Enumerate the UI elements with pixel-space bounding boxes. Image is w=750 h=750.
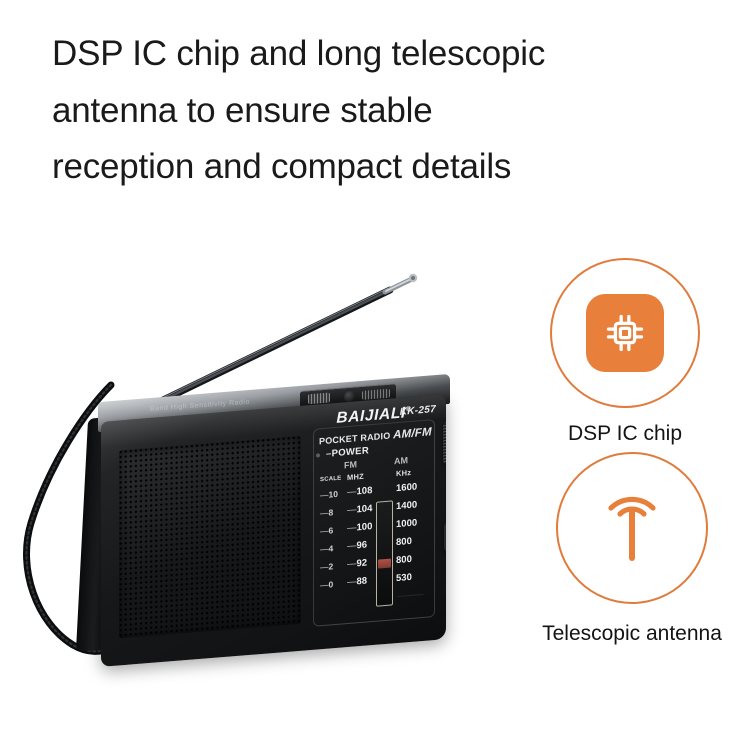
- radio-faceplate: BAIJIALI® KK-257 POCKET RADIO AM/FM –POW…: [313, 419, 435, 627]
- tuning-needle: [378, 558, 391, 568]
- pocket-radio-product: Band High Sensitivity Radio BAIJIALI® KK…: [60, 268, 490, 668]
- cpu-chip-icon: [586, 294, 664, 372]
- power-label: –POWER: [326, 445, 369, 459]
- dial-column-am: KHz 1600 1400 1000 800 800 530: [396, 465, 432, 613]
- dial-scale-value: 8: [329, 507, 334, 517]
- tuning-wheel[interactable]: [443, 421, 446, 464]
- dial-fm-value: 96: [357, 539, 368, 551]
- headline-line-3: reception and compact details: [52, 139, 712, 196]
- dial-fm-value: 92: [357, 557, 368, 569]
- dial-column-fm: MHZ —108 —104 —100 —96 —92 —88: [347, 470, 376, 617]
- product-feature-banner: DSP IC chip and long telescopic antenna …: [0, 0, 750, 750]
- band-type-text: AM/FM: [393, 426, 432, 441]
- band-label-am: AM: [394, 455, 408, 466]
- power-label-text: POWER: [332, 445, 369, 459]
- dial-scale-value: 6: [329, 525, 334, 535]
- dial-fm-value: 100: [357, 521, 373, 533]
- speaker-grille: [119, 436, 301, 639]
- page-title: DSP IC chip and long telescopic antenna …: [52, 26, 712, 196]
- dial-row: —0: [320, 574, 347, 594]
- registered-mark: ®: [406, 406, 412, 413]
- dial-row: —4: [320, 538, 347, 558]
- headline-line-2: antenna to ensure stable: [52, 83, 712, 140]
- feature-telescopic-antenna: Telescopic antenna: [512, 452, 750, 646]
- product-type-line: POCKET RADIO AM/FM: [319, 426, 430, 447]
- feature-ring: [550, 258, 700, 408]
- radio-body: BAIJIALI® KK-257 POCKET RADIO AM/FM –POW…: [101, 394, 446, 667]
- feature-label: DSP IC chip: [505, 422, 745, 446]
- band-label-fm: FM: [344, 459, 357, 470]
- model-number: KK-257: [400, 404, 436, 418]
- dial-row: —8: [320, 502, 347, 522]
- volume-wheel[interactable]: [444, 521, 446, 552]
- dial-scale-value: 10: [329, 489, 338, 500]
- dial-row: —2: [320, 556, 347, 576]
- antenna-signal-icon: [590, 486, 674, 570]
- dial-fm-value: 108: [357, 485, 373, 497]
- dial-scale-value: 0: [329, 579, 334, 589]
- feature-label: Telescopic antenna: [512, 622, 750, 646]
- dial-row: —100: [347, 518, 376, 538]
- dial-column-scale: SCALE —10 —8 —6 —4 —2 —0: [320, 472, 347, 619]
- power-led-indicator: [316, 453, 320, 457]
- dial-row: —6: [320, 520, 347, 540]
- dial-fm-value: 88: [357, 575, 368, 587]
- tuning-dial-window[interactable]: [376, 500, 393, 606]
- dial-scale-value: 4: [329, 543, 334, 553]
- dial-row: —10: [320, 484, 347, 504]
- feature-dsp-ic-chip: DSP IC chip: [505, 258, 745, 446]
- dial-row: 530: [396, 567, 432, 588]
- dial-row: —88: [347, 572, 376, 592]
- brand-name: BAIJIALI: [336, 404, 405, 427]
- headline-line-1: DSP IC chip and long telescopic: [52, 26, 712, 83]
- dial-scale-value: 2: [329, 561, 334, 571]
- top-tuning-wheel[interactable]: [308, 392, 330, 404]
- dial-fm-value: 104: [357, 503, 373, 515]
- product-type-text: POCKET RADIO: [319, 431, 390, 447]
- brand-logo: BAIJIALI®: [314, 402, 434, 430]
- feature-ring: [556, 452, 708, 604]
